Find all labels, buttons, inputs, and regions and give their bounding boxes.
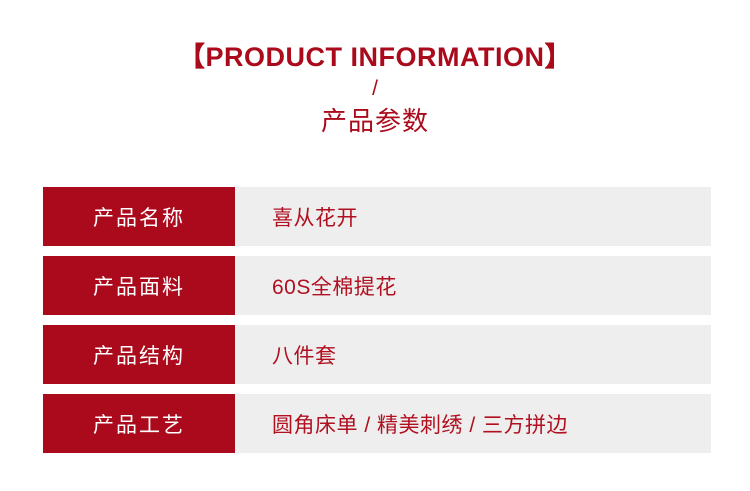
page-title: 【PRODUCT INFORMATION】	[0, 40, 750, 74]
title-divider: /	[0, 74, 750, 104]
table-row: 产品结构 八件套	[43, 325, 711, 384]
page-header: 【PRODUCT INFORMATION】 / 产品参数	[0, 40, 750, 138]
spec-label-product-name: 产品名称	[43, 187, 235, 246]
specification-table: 产品名称 喜从花开 产品面料 60S全棉提花 产品结构 八件套 产品工艺 圆角床…	[43, 187, 711, 453]
spec-label-product-craft: 产品工艺	[43, 394, 235, 453]
spec-value-product-structure: 八件套	[235, 325, 711, 384]
table-row: 产品面料 60S全棉提花	[43, 256, 711, 315]
product-information-page: 【PRODUCT INFORMATION】 / 产品参数 产品名称 喜从花开 产…	[0, 0, 750, 491]
spec-value-product-craft: 圆角床单 / 精美刺绣 / 三方拼边	[235, 394, 711, 453]
table-row: 产品名称 喜从花开	[43, 187, 711, 246]
table-row: 产品工艺 圆角床单 / 精美刺绣 / 三方拼边	[43, 394, 711, 453]
spec-value-product-fabric: 60S全棉提花	[235, 256, 711, 315]
page-subtitle: 产品参数	[0, 104, 750, 138]
spec-label-product-structure: 产品结构	[43, 325, 235, 384]
spec-label-product-fabric: 产品面料	[43, 256, 235, 315]
spec-value-product-name: 喜从花开	[235, 187, 711, 246]
